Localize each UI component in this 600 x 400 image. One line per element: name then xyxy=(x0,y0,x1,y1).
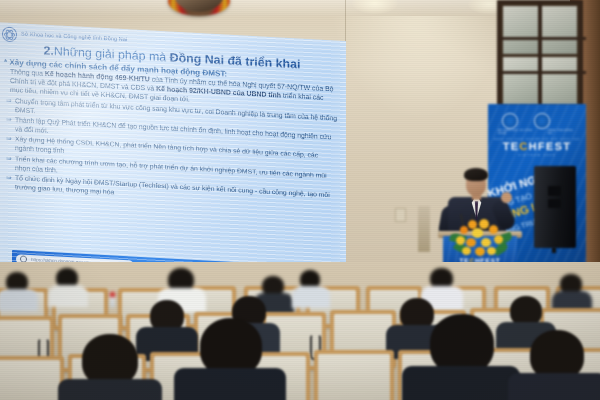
wordmark-pre: TE xyxy=(503,141,520,153)
backdrop-logo-captions: BỘ KHOA HỌC VÀ CÔNG NGHỆ UBND TỈNH ĐỒNG … xyxy=(498,129,576,135)
loudspeaker-port xyxy=(548,186,561,196)
window-icon xyxy=(497,0,583,112)
slide-arrow-list: Chuyển trọng tâm phát triển từ khu vực c… xyxy=(6,96,338,210)
bottle-icon xyxy=(110,292,115,308)
techfest-wordmark: TECHFEST xyxy=(488,141,586,153)
wordmark-accent: C xyxy=(519,141,528,153)
atom-icon xyxy=(2,26,17,42)
speaker-hand xyxy=(501,192,512,203)
speaker-hair xyxy=(464,168,488,181)
backdrop-wordmark: NGÀY HỘI KHỞI NGHIỆP ĐỔI MỚI SÁNG TẠO TE… xyxy=(488,137,586,157)
flower-arrangement xyxy=(448,218,514,258)
slide-title-number: 2. xyxy=(44,44,54,59)
logo-left-caption: BỘ KHOA HỌC VÀ CÔNG NGHỆ xyxy=(498,129,538,135)
backdrop-logos xyxy=(502,113,550,129)
projection-screen: Sở Khoa học và Công nghệ tỉnh Đồng Nai 2… xyxy=(0,22,346,291)
wall-light-glow xyxy=(330,0,510,120)
side-wall-panel xyxy=(418,206,430,252)
seat xyxy=(314,350,394,400)
logo-right-caption: UBND TỈNH ĐỒNG NAI xyxy=(548,129,576,135)
seat xyxy=(0,356,64,400)
loudspeaker-port xyxy=(548,199,561,208)
seal-logo-icon xyxy=(502,113,518,129)
slide-content: Sở Khoa học và Công nghệ tỉnh Đồng Nai 2… xyxy=(0,22,346,291)
seal-logo-icon xyxy=(534,113,550,129)
wordmark-post: HFEST xyxy=(529,141,572,153)
wall-panel xyxy=(395,208,406,222)
paragraph-pre: Thông qua xyxy=(10,69,45,78)
slide-org-name: Sở Khoa học và Công nghệ tỉnh Đồng Nai xyxy=(21,31,127,43)
loudspeaker-stand xyxy=(552,247,556,253)
conference-photo: Sở Khoa học và Công nghệ tỉnh Đồng Nai 2… xyxy=(0,0,600,400)
backdrop-year: VIETNAM 2025 xyxy=(488,153,586,157)
